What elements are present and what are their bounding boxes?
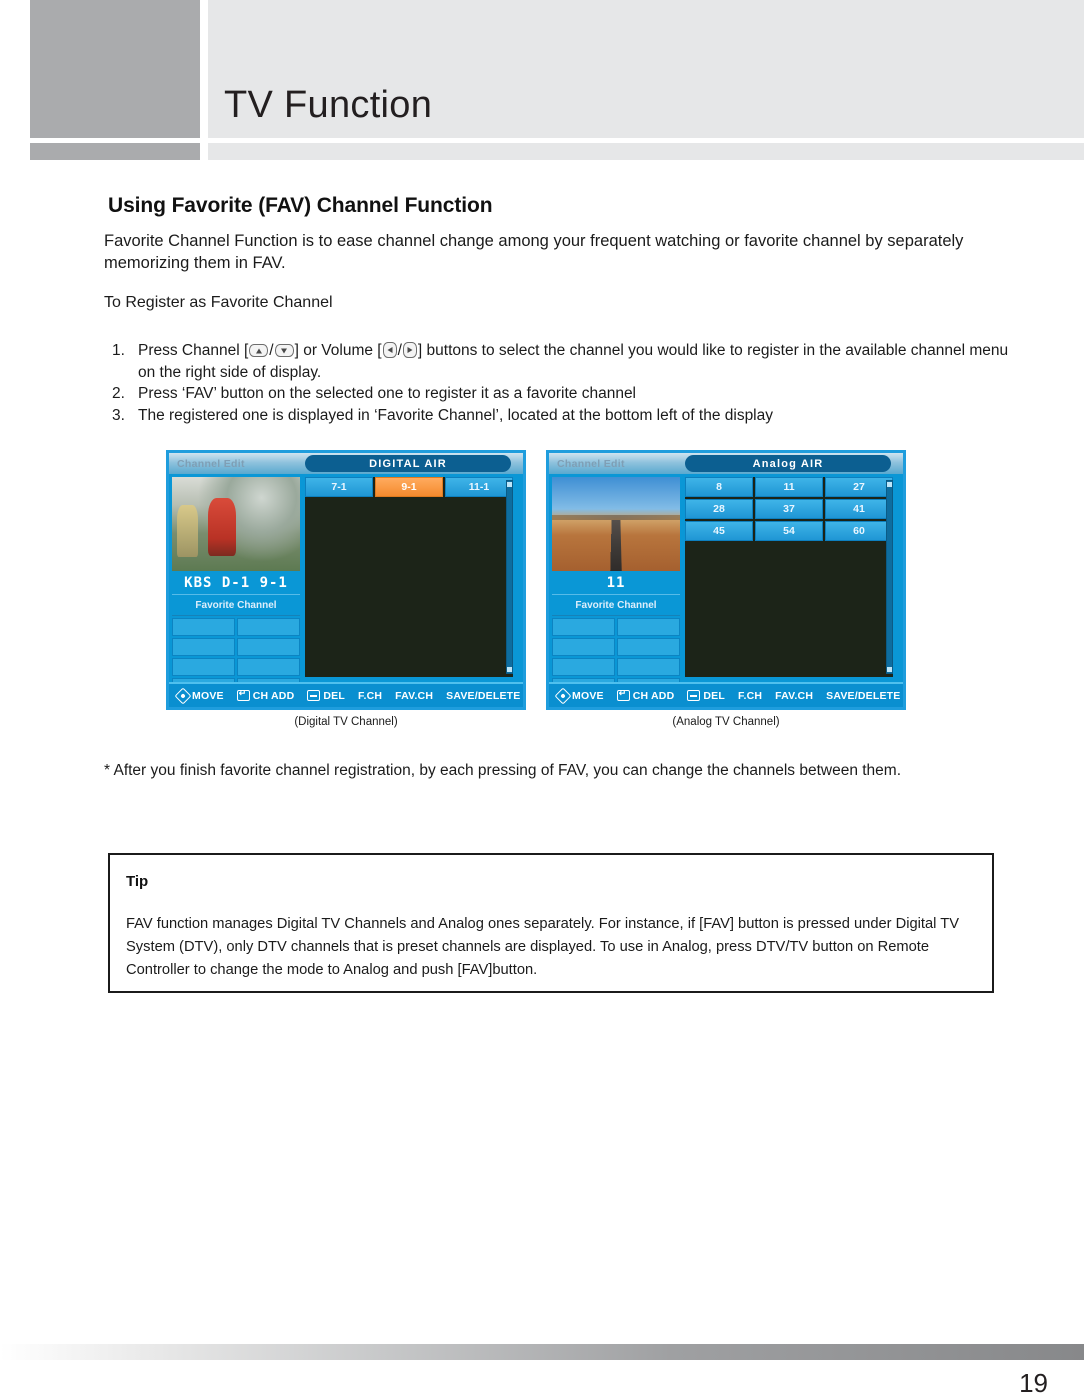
footer-action-ch-add[interactable]: CH ADD — [237, 690, 295, 702]
channel-grid: 8 11 27 28 37 41 45 54 60 — [685, 477, 893, 541]
volume-down-key-icon — [383, 342, 397, 358]
step-separator-1: / — [269, 342, 273, 359]
footer-action-move[interactable]: MOVE — [177, 690, 224, 702]
footer-action-move[interactable]: MOVE — [557, 690, 604, 702]
footer-action-save-delete[interactable]: SAVE/DELETE — [446, 690, 520, 702]
osd-channel-column: 7-1 9-1 11-1 — [305, 477, 513, 677]
channel-cell[interactable]: 45 — [685, 521, 753, 541]
video-preview — [172, 477, 300, 571]
footer-label: F.CH — [738, 690, 762, 702]
osd-body: 11 Favorite Channel — [549, 474, 903, 680]
scroll-up-arrow-icon[interactable] — [887, 482, 892, 487]
channel-list-area: 8 11 27 28 37 41 45 54 60 — [685, 477, 893, 677]
scroll-down-arrow-icon[interactable] — [887, 667, 892, 672]
header-gray-block — [30, 0, 200, 138]
channel-cell[interactable]: 11 — [755, 477, 823, 497]
section-title: Using Favorite (FAV) Channel Function — [108, 194, 492, 218]
footnote: * After you finish favorite channel regi… — [104, 760, 1004, 782]
footer-action-fav-ch[interactable]: FAV.CH — [395, 690, 433, 702]
screenshot-caption: (Digital TV Channel) — [166, 716, 526, 728]
osd-titlebar: Channel Edit DIGITAL AIR — [169, 453, 523, 474]
step-text: The registered one is displayed in ‘Favo… — [138, 407, 773, 424]
footer-label: MOVE — [192, 690, 224, 702]
footer-label: MOVE — [572, 690, 604, 702]
favorite-slot[interactable] — [552, 638, 615, 656]
tip-body: FAV function manages Digital TV Channels… — [126, 913, 976, 982]
channel-cell[interactable]: 11-1 — [445, 477, 513, 497]
step-number: 2. — [112, 383, 138, 405]
current-channel-label: KBS D-1 9-1 — [172, 571, 300, 595]
footer-label: SAVE/DELETE — [826, 690, 900, 702]
steps-list: 1.Press Channel [/] or Volume [/] button… — [112, 340, 1012, 426]
channel-cell[interactable]: 7-1 — [305, 477, 373, 497]
enter-key-icon — [237, 690, 250, 701]
footer-action-fav-ch[interactable]: FAV.CH — [775, 690, 813, 702]
favorite-slot[interactable] — [237, 658, 300, 676]
page-header: TV Function — [0, 0, 1084, 140]
footer-label: CH ADD — [253, 690, 295, 702]
favorite-slot[interactable] — [617, 618, 680, 636]
step-number: 3. — [112, 405, 138, 427]
osd-title-label: Channel Edit — [177, 458, 245, 470]
osd-mode-badge: DIGITAL AIR — [305, 455, 511, 472]
section-subheading: To Register as Favorite Channel — [104, 294, 333, 312]
channel-list-area: 7-1 9-1 11-1 — [305, 477, 513, 677]
osd-titlebar: Channel Edit Analog AIR — [549, 453, 903, 474]
step-number: 1. — [112, 340, 138, 362]
volume-up-key-icon — [403, 342, 417, 358]
channel-cell[interactable]: 8 — [685, 477, 753, 497]
favorite-slot[interactable] — [237, 618, 300, 636]
section-intro: Favorite Channel Function is to ease cha… — [104, 230, 994, 274]
channel-list-scrollbar[interactable] — [886, 480, 893, 674]
osd-title-label: Channel Edit — [557, 458, 625, 470]
list-item-step-2: 2.Press ‘FAV’ button on the selected one… — [112, 383, 1012, 405]
footer-action-f-ch[interactable]: F.CH — [738, 690, 762, 702]
page-number: 19 — [1019, 1368, 1048, 1399]
osd-channel-column: 8 11 27 28 37 41 45 54 60 — [685, 477, 893, 677]
step-separator-2: / — [398, 342, 402, 359]
osd-preview-column: KBS D-1 9-1 Favorite Channel — [172, 477, 300, 677]
favorite-slot[interactable] — [172, 638, 235, 656]
osd-body: KBS D-1 9-1 Favorite Channel — [169, 474, 523, 680]
channel-cell[interactable]: 54 — [755, 521, 823, 541]
page-title: TV Function — [224, 86, 432, 124]
footer-label: FAV.CH — [395, 690, 433, 702]
minus-key-icon — [307, 690, 320, 701]
footer-action-del[interactable]: DEL — [687, 690, 725, 702]
osd-footer-bar: MOVE CH ADD DEL F.CH FAV.CH — [169, 682, 523, 707]
enter-key-icon — [617, 690, 630, 701]
step-text: Press ‘FAV’ button on the selected one t… — [138, 385, 636, 402]
footer-gradient-bar — [0, 1344, 1084, 1360]
header-strip-light — [208, 143, 1084, 160]
tip-box: Tip FAV function manages Digital TV Chan… — [108, 853, 994, 993]
footer-label: SAVE/DELETE — [446, 690, 520, 702]
footer-action-save-delete[interactable]: SAVE/DELETE — [826, 690, 900, 702]
osd-preview-column: 11 Favorite Channel — [552, 477, 680, 677]
channel-down-key-icon — [275, 344, 294, 357]
footer-action-del[interactable]: DEL — [307, 690, 345, 702]
osd-screenshots: Channel Edit DIGITAL AIR KBS D-1 9-1 Fav… — [166, 450, 906, 740]
manual-page: TV Function Using Favorite (FAV) Channel… — [0, 0, 1084, 1400]
minus-key-icon — [687, 690, 700, 701]
favorite-channel-header: Favorite Channel — [552, 595, 680, 616]
video-preview — [552, 477, 680, 571]
footer-label: F.CH — [358, 690, 382, 702]
scroll-down-arrow-icon[interactable] — [507, 667, 512, 672]
list-item-step-1: 1.Press Channel [/] or Volume [/] button… — [112, 340, 1012, 383]
favorite-slot[interactable] — [172, 658, 235, 676]
channel-up-key-icon — [249, 344, 268, 357]
osd-panel: Channel Edit Analog AIR 11 Favorite Chan… — [546, 450, 906, 710]
channel-cell-selected[interactable]: 9-1 — [375, 477, 443, 497]
footer-action-ch-add[interactable]: CH ADD — [617, 690, 675, 702]
footer-label: FAV.CH — [775, 690, 813, 702]
step-text-part2: ] or Volume [ — [295, 342, 382, 359]
header-strip-gray — [30, 143, 200, 160]
list-item-step-3: 3.The registered one is displayed in ‘Fa… — [112, 405, 1012, 427]
dpad-icon — [175, 687, 192, 704]
step-text-part1: Press Channel [ — [138, 342, 248, 359]
osd-mode-badge: Analog AIR — [685, 455, 891, 472]
channel-list-scrollbar[interactable] — [506, 480, 513, 674]
channel-cell[interactable]: 41 — [825, 499, 893, 519]
osd-screenshot-analog: Channel Edit Analog AIR 11 Favorite Chan… — [546, 450, 906, 710]
channel-cell[interactable]: 28 — [685, 499, 753, 519]
dpad-icon — [555, 687, 572, 704]
osd-panel: Channel Edit DIGITAL AIR KBS D-1 9-1 Fav… — [166, 450, 526, 710]
screenshot-caption: (Analog TV Channel) — [546, 716, 906, 728]
favorite-slot[interactable] — [172, 618, 235, 636]
osd-screenshot-digital: Channel Edit DIGITAL AIR KBS D-1 9-1 Fav… — [166, 450, 526, 710]
current-channel-label: 11 — [552, 571, 680, 595]
footer-label: DEL — [323, 690, 345, 702]
scroll-up-arrow-icon[interactable] — [507, 482, 512, 487]
tip-title: Tip — [126, 873, 148, 890]
footer-label: CH ADD — [633, 690, 675, 702]
favorite-channel-header: Favorite Channel — [172, 595, 300, 616]
channel-cell[interactable]: 27 — [825, 477, 893, 497]
channel-cell[interactable]: 37 — [755, 499, 823, 519]
channel-cell[interactable]: 60 — [825, 521, 893, 541]
footer-action-f-ch[interactable]: F.CH — [358, 690, 382, 702]
favorite-slot[interactable] — [617, 658, 680, 676]
osd-footer-bar: MOVE CH ADD DEL F.CH FAV.CH — [549, 682, 903, 707]
favorite-slot[interactable] — [617, 638, 680, 656]
favorite-slot[interactable] — [552, 618, 615, 636]
channel-grid: 7-1 9-1 11-1 — [305, 477, 513, 497]
favorite-slot[interactable] — [237, 638, 300, 656]
footer-label: DEL — [703, 690, 725, 702]
favorite-slot[interactable] — [552, 658, 615, 676]
